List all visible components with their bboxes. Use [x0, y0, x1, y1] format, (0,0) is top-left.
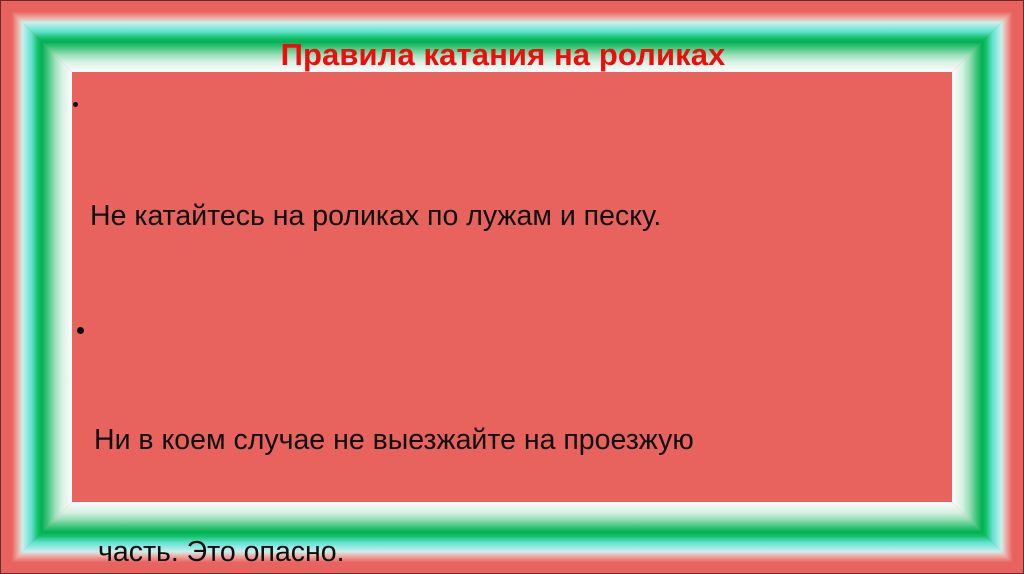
- slide-title: Правила катания на роликах: [60, 38, 964, 73]
- list-item-line: часть. Это опасно.: [98, 534, 964, 571]
- bullet-dot-icon: [73, 102, 78, 107]
- slide: Правила катания на роликах Не катайтесь …: [0, 0, 1024, 574]
- bullet-dot-icon: [77, 327, 84, 334]
- list-item-line: Ни в коем случае не выезжайте на проезжу…: [94, 422, 964, 459]
- rules-list: Не катайтесь на роликах по лужам и песку…: [60, 87, 964, 574]
- slide-content: Правила катания на роликах Не катайтесь …: [60, 38, 964, 538]
- list-item: Не катайтесь на роликах по лужам и песку…: [60, 87, 964, 310]
- list-item-line: Не катайтесь на роликах по лужам и песку…: [90, 198, 964, 235]
- list-item: Ни в коем случае не выезжайте на проезжу…: [60, 311, 964, 574]
